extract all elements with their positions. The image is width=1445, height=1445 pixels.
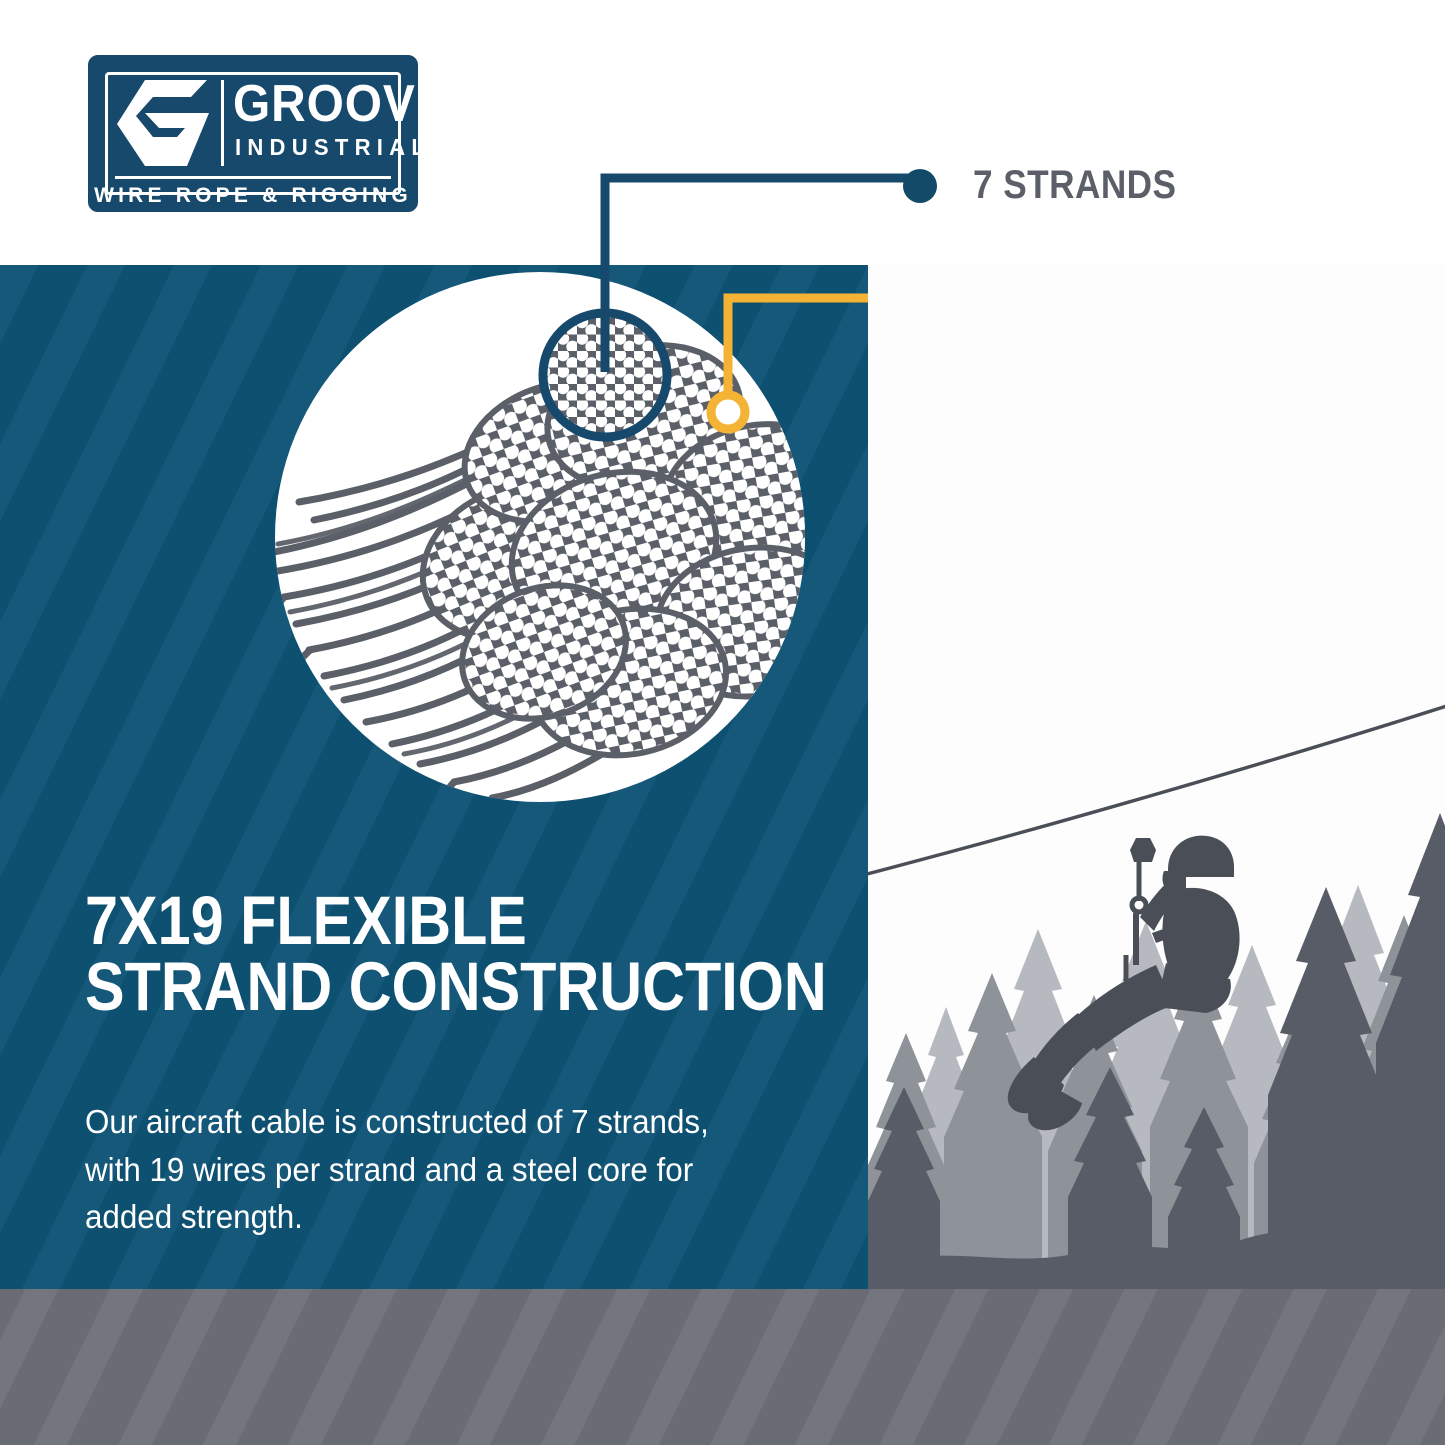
logo-wordmark: GROOVE xyxy=(233,78,449,130)
logo-tagline: WIRE ROPE & RIGGING xyxy=(93,184,413,208)
zipline-photo xyxy=(868,265,1445,1289)
logo-subtitle: INDUSTRIAL xyxy=(235,136,431,159)
logo-frame: GROOVE INDUSTRIAL WIRE ROPE & RIGGING xyxy=(88,55,418,212)
body-description: Our aircraft cable is constructed of 7 s… xyxy=(85,1098,712,1241)
callout-label: 7 STRANDS xyxy=(973,163,1176,208)
brand-logo[interactable]: GROOVE INDUSTRIAL WIRE ROPE & RIGGING xyxy=(88,55,418,212)
headline-line-2: STRAND CONSTRUCTION xyxy=(85,954,739,1020)
callout-dot-navy-icon xyxy=(903,169,937,203)
orange-ring-marker-icon xyxy=(711,395,745,429)
callout-item-strands[interactable]: 7 STRANDS xyxy=(903,163,1204,208)
footer-diagonal-texture xyxy=(0,1289,1445,1445)
headline-line-1: 7X19 FLEXIBLE xyxy=(85,888,739,954)
zipline-scene-illustration xyxy=(868,265,1445,1289)
page-title: 7X19 FLEXIBLE STRAND CONSTRUCTION xyxy=(85,888,739,1019)
logo-divider xyxy=(221,80,224,166)
infographic-canvas: GROOVE INDUSTRIAL WIRE ROPE & RIGGING xyxy=(0,0,1445,1445)
footer-bar xyxy=(0,1289,1445,1445)
logo-horizontal-rule xyxy=(115,176,391,179)
groove-g-monogram-icon xyxy=(115,80,213,166)
